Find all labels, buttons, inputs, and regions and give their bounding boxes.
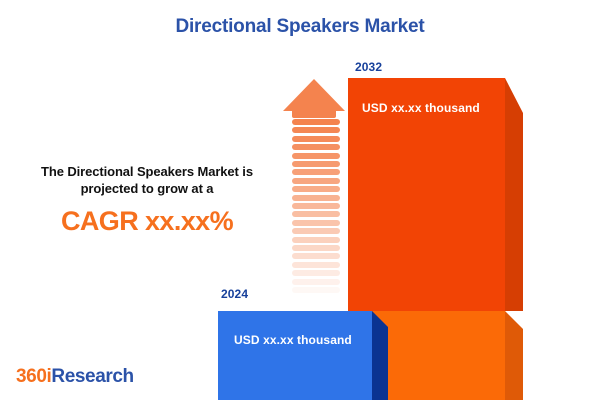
page-title: Directional Speakers Market xyxy=(0,16,600,38)
bar-2024-value-label: USD xx.xx thousand xyxy=(234,333,352,347)
brand-logo: 360iResearch xyxy=(16,366,134,388)
logo-text-blue: Research xyxy=(51,366,133,387)
infographic-canvas: Directional Speakers Market 2032 USD xx.… xyxy=(0,0,600,400)
arrow-stripe xyxy=(292,253,340,259)
arrow-stripe xyxy=(292,127,340,133)
arrow-stripe xyxy=(292,153,340,159)
arrow-stripe xyxy=(292,144,340,150)
bar-2024-side xyxy=(372,311,388,400)
arrow-stripes xyxy=(292,119,340,304)
arrow-stripe xyxy=(292,136,340,142)
year-label-2032: 2032 xyxy=(355,60,382,74)
arrow-stripe xyxy=(292,237,340,243)
year-label-2024: 2024 xyxy=(221,287,248,301)
arrow-stripe xyxy=(292,119,340,125)
cagr-value: CAGR xx.xx% xyxy=(14,206,280,236)
arrow-stripe xyxy=(292,287,340,293)
arrow-stripe xyxy=(292,211,340,217)
arrow-stripe xyxy=(292,262,340,268)
bar-2032-value-label: USD xx.xx thousand xyxy=(362,101,480,115)
bar-2024: USD xx.xx thousand xyxy=(218,311,388,400)
arrow-stripe xyxy=(292,295,340,301)
logo-text-orange: 360i xyxy=(16,366,51,387)
statement-line-2: projected to grow at a xyxy=(14,180,280,197)
arrow-stripe xyxy=(292,161,340,167)
growth-arrow-icon xyxy=(283,79,345,304)
arrow-stripe xyxy=(292,178,340,184)
statement-block: The Directional Speakers Market is proje… xyxy=(14,163,280,236)
bar-2024-face xyxy=(218,311,372,400)
bar-2032-side-lower xyxy=(505,311,523,400)
bar-2032-side-upper xyxy=(505,78,523,311)
arrow-stripe xyxy=(292,279,340,285)
arrow-stripe xyxy=(292,228,340,234)
arrow-stripe xyxy=(292,203,340,209)
arrow-stripe xyxy=(292,169,340,175)
arrow-head xyxy=(283,79,345,111)
arrow-stripe xyxy=(292,220,340,226)
arrow-stripe xyxy=(292,186,340,192)
arrow-stripe xyxy=(292,195,340,201)
arrow-neck xyxy=(292,110,336,118)
arrow-stripe xyxy=(292,245,340,251)
arrow-stripe xyxy=(292,270,340,276)
statement-line-1: The Directional Speakers Market is xyxy=(14,163,280,180)
